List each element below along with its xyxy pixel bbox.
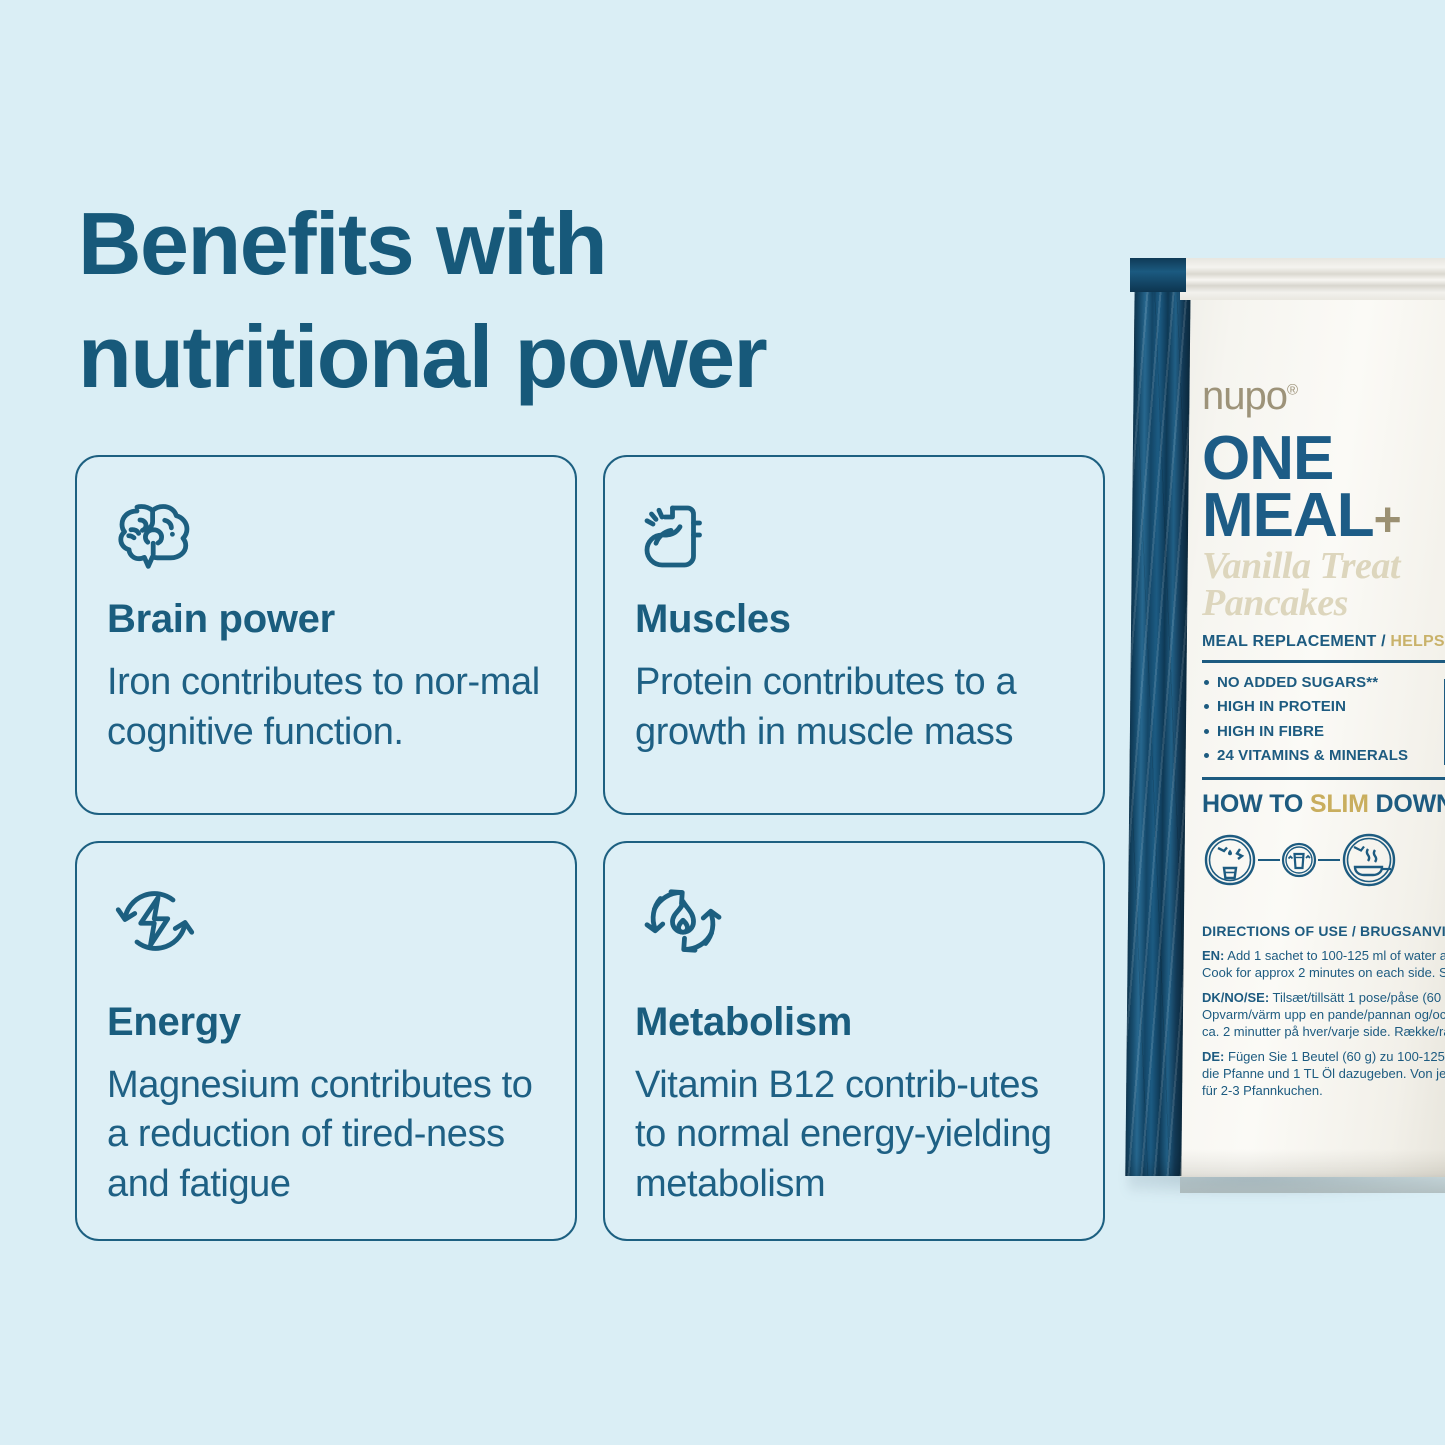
benefit-title: Energy — [107, 1000, 545, 1045]
product-name: ONE MEAL+ — [1202, 430, 1445, 544]
shake-icon — [1280, 841, 1318, 879]
benefit-body: Magnesium contributes to a reduction of … — [107, 1061, 545, 1217]
benefit-title: Brain power — [107, 597, 545, 642]
directions-block-dknose: DK/NO/SE: Tilsæt/tillsätt 1 pose/påse (6… — [1202, 990, 1445, 1040]
bicep-icon — [635, 487, 731, 583]
directions-line: ca. 2 minutter på hver/varje side. Række… — [1202, 1024, 1445, 1041]
list-item: NO ADDED SUGARS** — [1202, 671, 1445, 695]
directions-line: DK/NO/SE: Tilsæt/tillsätt 1 pose/påse (6… — [1202, 990, 1445, 1007]
lang-label: EN: — [1202, 948, 1224, 963]
benefit-card-energy: Energy Magnesium contributes to a reduct… — [75, 841, 577, 1241]
cook-pan-icon — [1340, 831, 1398, 889]
pour-water-icon — [1202, 832, 1258, 888]
pouch-top-seal-gusset — [1130, 258, 1186, 292]
brand-logo: nupo® — [1202, 376, 1445, 416]
metabolism-flame-icon — [635, 873, 731, 969]
directions-line: die Pfanne und 1 TL Öl dazugeben. Von je… — [1202, 1066, 1445, 1083]
step-connector-2 — [1318, 855, 1340, 865]
list-item: HIGH IN PROTEIN — [1202, 695, 1445, 719]
divider-bottom — [1202, 777, 1445, 780]
pouch-body: nupo® ONE MEAL+ Vanilla Treat Pancakes M… — [1118, 258, 1445, 1193]
brain-icon — [107, 487, 203, 583]
pouch-top-seal — [1180, 258, 1445, 300]
product-pouch: nupo® ONE MEAL+ Vanilla Treat Pancakes M… — [1118, 258, 1445, 1193]
plus-symbol: + — [1374, 494, 1401, 547]
pouch-side-gusset — [1125, 276, 1190, 1176]
benefit-card-metabolism: Metabolism Vitamin B12 contrib-utes to n… — [603, 841, 1105, 1241]
meal-replacement-claim: MEAL REPLACEMENT / HELPS — [1202, 633, 1445, 651]
brand-name: nupo — [1202, 374, 1287, 418]
benefit-body: Vitamin B12 contrib-utes to normal energ… — [635, 1061, 1073, 1217]
divider-top — [1202, 660, 1445, 663]
directions-block-en: EN: Add 1 sachet to 100-125 ml of water … — [1202, 948, 1445, 981]
page-title: Benefits with nutritional power — [78, 188, 958, 413]
benefit-card-brain-power: Brain power Iron contributes to nor-mal … — [75, 455, 577, 815]
directions-line: DE: Fügen Sie 1 Beutel (60 g) zu 100-125… — [1202, 1049, 1445, 1066]
energy-cycle-icon — [107, 873, 203, 969]
product-name-line-1: ONE — [1202, 430, 1445, 487]
list-item: HIGH IN FIBRE — [1202, 720, 1445, 744]
benefit-card-muscles: Muscles Protein contributes to a growth … — [603, 455, 1105, 815]
how-to-heading: HOW TO SLIM DOWN — [1202, 790, 1445, 819]
how-to-step-icons — [1202, 831, 1445, 889]
list-item: 24 VITAMINS & MINERALS — [1202, 744, 1445, 768]
pouch-printed-artwork: nupo® ONE MEAL+ Vanilla Treat Pancakes M… — [1202, 376, 1445, 1099]
benefit-body: Protein contributes to a growth in muscl… — [635, 658, 1073, 791]
page-title-line-1: Benefits with — [78, 188, 958, 301]
flavour-line-1: Vanilla Treat — [1202, 548, 1445, 584]
registered-mark: ® — [1287, 382, 1297, 399]
lang-label: DE: — [1202, 1049, 1224, 1064]
pouch-bottom-fold — [1180, 1149, 1445, 1193]
page-title-line-2: nutritional power — [78, 301, 958, 414]
promo-page: Benefits with nutritional power — [0, 0, 1445, 1445]
claim-highlight: HELPS — [1390, 633, 1444, 650]
product-flavour: Vanilla Treat Pancakes — [1202, 548, 1445, 621]
step-connector-1 — [1258, 855, 1280, 865]
product-claims-list: NO ADDED SUGARS** HIGH IN PROTEIN HIGH I… — [1202, 671, 1445, 768]
directions-line: für 2-3 Pfannkuchen. — [1202, 1083, 1445, 1100]
benefit-title: Metabolism — [635, 1000, 1073, 1045]
lang-label: DK/NO/SE: — [1202, 990, 1269, 1005]
directions-heading: DIRECTIONS OF USE / BRUGSANVISNIN — [1202, 923, 1445, 939]
directions-line: EN: Add 1 sachet to 100-125 ml of water … — [1202, 948, 1445, 965]
claims-row: NO ADDED SUGARS** HIGH IN PROTEIN HIGH I… — [1202, 671, 1445, 768]
flavour-line-2: Pancakes — [1202, 585, 1445, 621]
directions-block-de: DE: Fügen Sie 1 Beutel (60 g) zu 100-125… — [1202, 1049, 1445, 1099]
product-name-line-2: MEAL+ — [1202, 487, 1445, 544]
directions-line: Opvarm/värm upp en pande/pannan og/och t… — [1202, 1007, 1445, 1024]
benefit-title: Muscles — [635, 597, 1073, 642]
benefit-body: Iron contributes to nor-mal cognitive fu… — [107, 658, 545, 791]
how-to-highlight: SLIM — [1310, 790, 1369, 818]
directions-line: Cook for approx 2 minutes on each side. … — [1202, 965, 1445, 982]
benefit-card-grid: Brain power Iron contributes to nor-mal … — [75, 455, 1105, 1241]
